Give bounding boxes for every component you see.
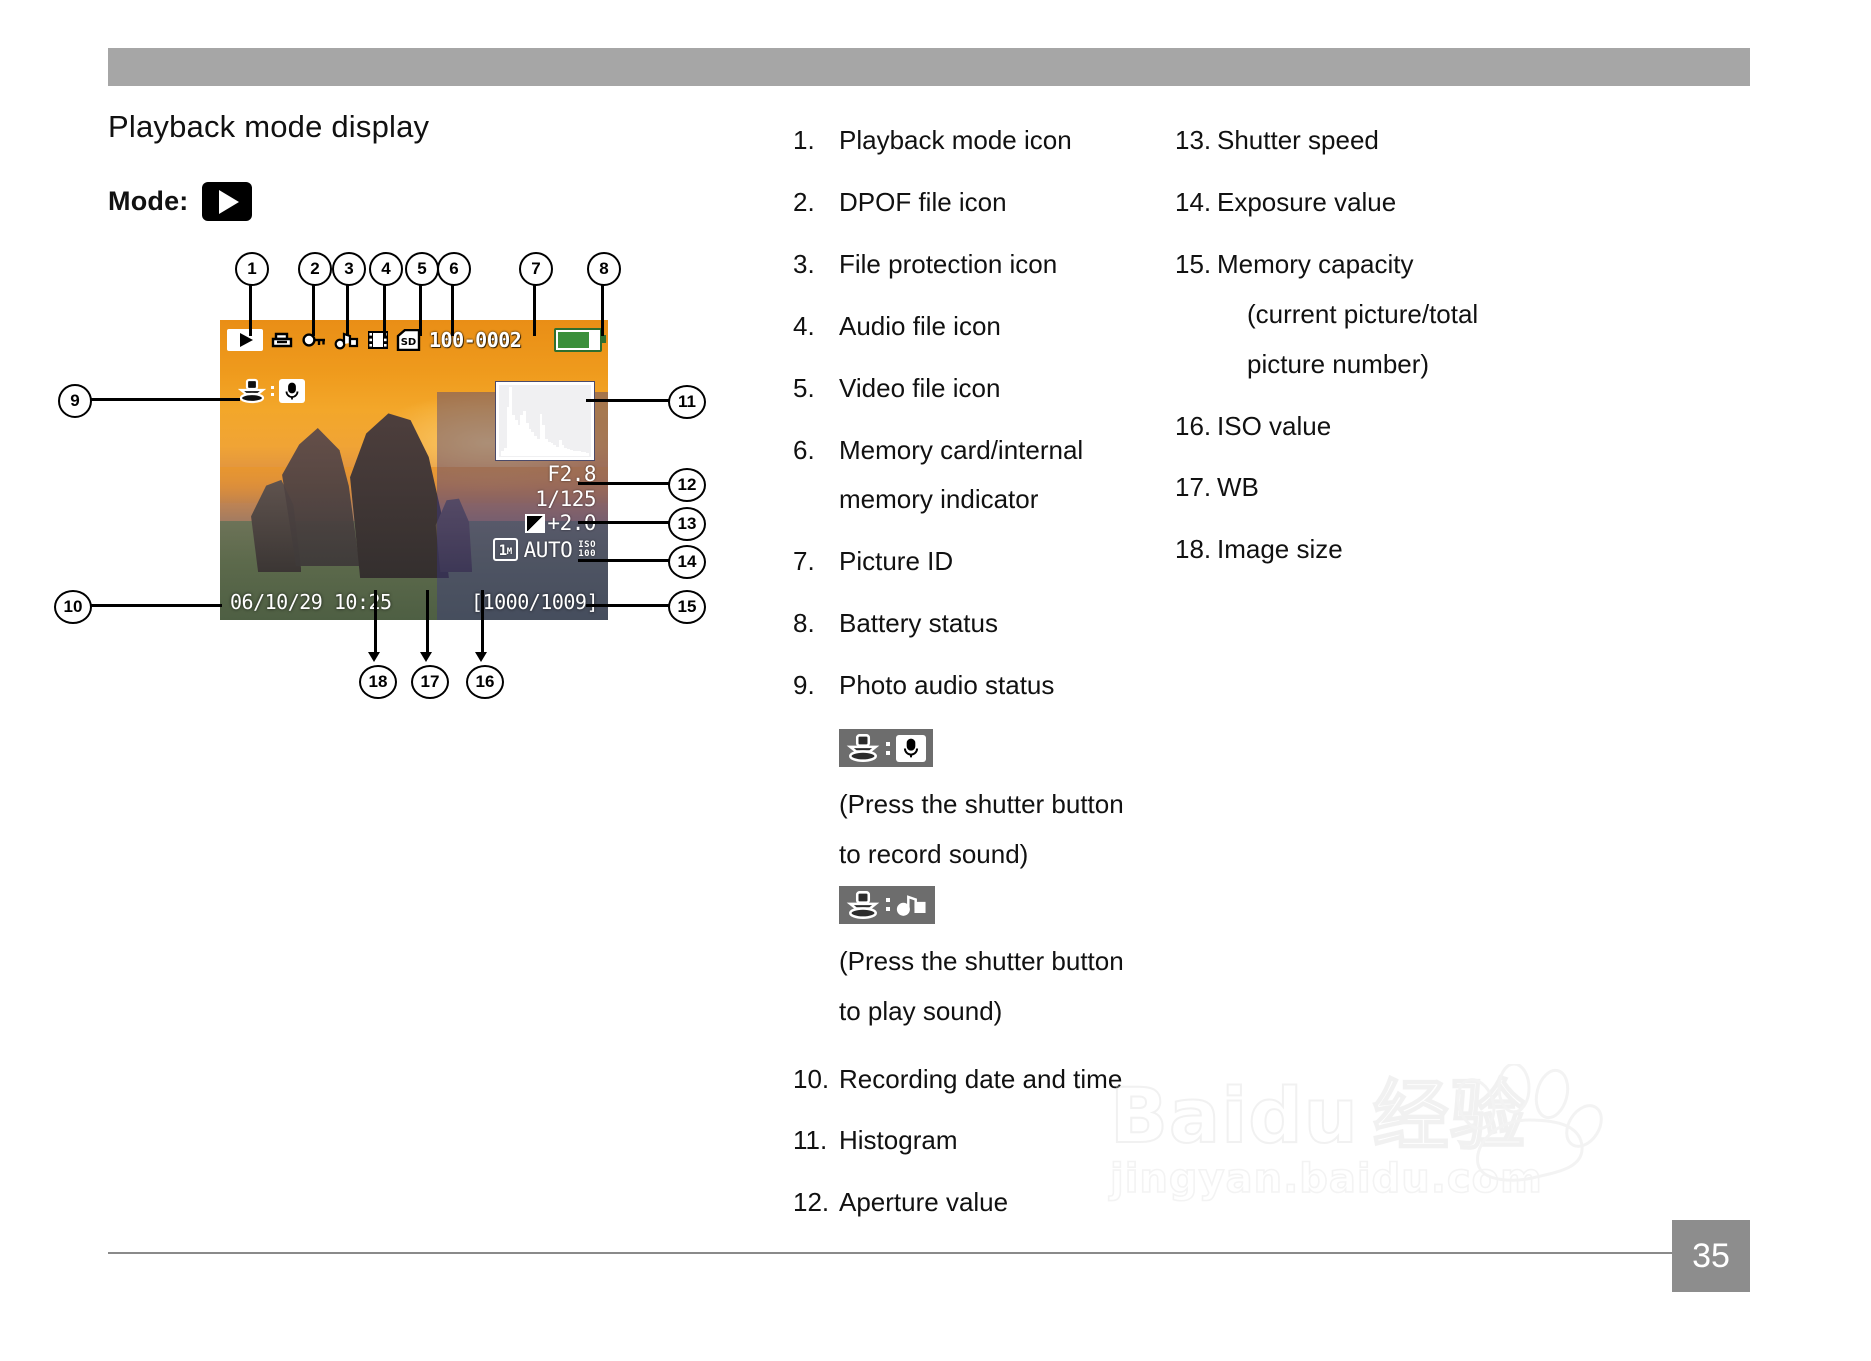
callout-9: 9 xyxy=(58,384,92,418)
legend-text: DPOF file icon xyxy=(839,178,1153,228)
callout-1: 1 xyxy=(235,252,269,286)
separator-dots xyxy=(886,898,890,911)
histogram-bar xyxy=(586,453,589,456)
osd-values: F2.8 1/125 +2.0 1M AUTO ISO 100 xyxy=(493,462,596,562)
legend-text: ISO value xyxy=(1217,402,1535,452)
watermark-brand-cn: 经验 xyxy=(1373,1080,1527,1152)
osd-top-row: SD 100-0002 xyxy=(227,327,602,353)
legend-number: 7. xyxy=(793,537,839,587)
legend-item: 16.ISO value xyxy=(1175,402,1535,452)
shutter-press-icon xyxy=(238,378,266,404)
legend-text: Image size xyxy=(1217,525,1535,575)
legend-text: Picture ID xyxy=(839,537,1153,587)
legend-number: 3. xyxy=(793,240,839,290)
legend-number: 1. xyxy=(793,116,839,166)
iso-value: 100 xyxy=(578,550,596,559)
legend-item: 12.Aperture value xyxy=(793,1178,1153,1228)
legend-item: 3.File protection icon xyxy=(793,240,1153,290)
legend-number: 9. xyxy=(793,661,839,711)
audio-play-note-line1: (Press the shutter button xyxy=(793,937,1153,987)
callout-10: 10 xyxy=(54,590,92,624)
page-number: 35 xyxy=(1672,1220,1750,1292)
callout-17: 17 xyxy=(411,665,449,699)
watermark-url: jingyan.baidu.com xyxy=(1110,1156,1700,1202)
legend-text: Histogram xyxy=(839,1116,1153,1166)
legend-number: 15. xyxy=(1175,240,1217,290)
audio-record-note-line1: (Press the shutter button xyxy=(793,780,1153,830)
footer-divider xyxy=(108,1252,1748,1254)
callout-6: 6 xyxy=(437,252,471,286)
sd-card-memory-icon: SD xyxy=(396,329,421,351)
photo-audio-status xyxy=(238,378,305,404)
legend-text: Playback mode icon xyxy=(839,116,1153,166)
iso-chip: ISO 100 xyxy=(578,541,596,559)
osd-bottom-row: 06/10/29 10:25 [1000/1009] xyxy=(230,590,598,614)
picture-id: 100-0002 xyxy=(429,328,521,352)
microphone-icon xyxy=(896,735,926,762)
baidu-watermark: Baidu 经验 jingyan.baidu.com xyxy=(1110,1080,1700,1270)
image-size-unit: M xyxy=(507,545,512,559)
callout-15: 15 xyxy=(668,590,706,624)
legend-number: 14. xyxy=(1175,178,1217,228)
legend-item: 5.Video file icon xyxy=(793,364,1153,414)
mode-row: Mode: xyxy=(108,182,748,221)
legend-number: 16. xyxy=(1175,402,1217,452)
callout-14: 14 xyxy=(668,545,706,579)
legend-item: 2.DPOF file icon xyxy=(793,178,1153,228)
legend-text: Memory card/internalmemory indicator xyxy=(839,426,1153,526)
legend-text: Photo audio status xyxy=(839,661,1153,711)
legend-number: 5. xyxy=(793,364,839,414)
callout-3: 3 xyxy=(332,252,366,286)
legend-item: 4.Audio file icon xyxy=(793,302,1153,352)
legend-column-right: 13.Shutter speed 14.Exposure value 15.Me… xyxy=(1175,116,1535,587)
legend-text-line2: (current picture/total xyxy=(1217,290,1535,340)
separator-dots xyxy=(271,386,274,396)
legend-text-line1: Memory card/internal xyxy=(839,435,1083,465)
legend-text: Recording date and time xyxy=(839,1055,1153,1105)
mode-label: Mode: xyxy=(108,186,188,217)
legend-text: Memory capacity(current picture/totalpic… xyxy=(1217,240,1535,390)
legend-item: 15.Memory capacity(current picture/total… xyxy=(1175,240,1535,390)
playback-mode-icon xyxy=(227,329,263,351)
page-title: Playback mode display xyxy=(108,110,748,144)
recording-datetime: 06/10/29 10:25 xyxy=(230,590,392,614)
histogram xyxy=(496,382,594,460)
legend-number: 8. xyxy=(793,599,839,649)
playback-display-diagram: 1 2 3 4 5 6 7 8 9 10 11 12 13 14 15 xyxy=(108,240,758,710)
legend-number: 4. xyxy=(793,302,839,352)
image-size-value: 1 xyxy=(499,543,507,559)
microphone-icon xyxy=(279,379,305,403)
legend-item: 13.Shutter speed xyxy=(1175,116,1535,166)
legend-item: 10.Recording date and time xyxy=(793,1055,1153,1105)
legend-text: WB xyxy=(1217,463,1535,513)
audio-record-note-line2: to record sound) xyxy=(793,830,1153,880)
legend-number: 13. xyxy=(1175,116,1217,166)
exposure-compensation-icon xyxy=(525,514,545,533)
white-balance-value: AUTO xyxy=(524,538,573,563)
osd-layer: SD 100-0002 xyxy=(220,320,608,620)
legend-item: 6.Memory card/internalmemory indicator xyxy=(793,426,1153,526)
legend-text: Audio file icon xyxy=(839,302,1153,352)
dpof-printer-icon xyxy=(270,329,294,351)
shutter-press-icon xyxy=(846,890,880,920)
image-size-chip: 1M xyxy=(493,538,518,561)
legend-item: 7.Picture ID xyxy=(793,537,1153,587)
legend-number: 6. xyxy=(793,426,839,476)
callout-4: 4 xyxy=(369,252,403,286)
legend-text: Aperture value xyxy=(839,1178,1153,1228)
callout-12: 12 xyxy=(668,468,706,502)
separator-dots xyxy=(886,742,890,755)
legend-number: 12. xyxy=(793,1178,839,1228)
legend-number: 2. xyxy=(793,178,839,228)
svg-text:SD: SD xyxy=(401,337,417,348)
legend-text: File protection icon xyxy=(839,240,1153,290)
battery-status-icon xyxy=(554,328,602,352)
callout-8: 8 xyxy=(587,252,621,286)
callout-5: 5 xyxy=(405,252,439,286)
legend-number: 10. xyxy=(793,1055,839,1105)
legend-number: 18. xyxy=(1175,525,1217,575)
legend-column-left: 1.Playback mode icon 2.DPOF file icon 3.… xyxy=(793,116,1153,1240)
page-header-bar xyxy=(108,48,1750,86)
callout-7: 7 xyxy=(519,252,553,286)
audio-note-icon xyxy=(896,892,928,918)
audio-record-icon-pair xyxy=(839,729,933,767)
shutter-press-icon xyxy=(846,733,880,763)
callout-2: 2 xyxy=(298,252,332,286)
manual-page: Playback mode display Mode: 1 2 3 4 5 6 … xyxy=(0,0,1871,1361)
legend-text: Video file icon xyxy=(839,364,1153,414)
legend-text-line1: Memory capacity xyxy=(1217,249,1414,279)
video-file-film-icon xyxy=(367,329,389,351)
histogram-bars xyxy=(501,387,589,456)
audio-play-icon-pair xyxy=(839,886,935,924)
legend-text-line3: picture number) xyxy=(1217,340,1535,390)
legend-text: Exposure value xyxy=(1217,178,1535,228)
legend-item: 11.Histogram xyxy=(793,1116,1153,1166)
legend-number: 11. xyxy=(793,1116,839,1166)
legend-item: 14.Exposure value xyxy=(1175,178,1535,228)
paw-icon xyxy=(1434,1064,1604,1184)
legend-item: 1.Playback mode icon xyxy=(793,116,1153,166)
shutter-speed: 1/125 xyxy=(493,487,596,512)
legend-item: 8.Battery status xyxy=(793,599,1153,649)
legend-text: Battery status xyxy=(839,599,1153,649)
legend-text-line2: memory indicator xyxy=(839,475,1153,525)
legend-number: 17. xyxy=(1175,463,1217,513)
legend-item: 9.Photo audio status xyxy=(793,661,1153,711)
legend-item: 18.Image size xyxy=(1175,525,1535,575)
callout-16: 16 xyxy=(466,665,504,699)
play-icon xyxy=(202,182,252,221)
audio-play-note-line2: to play sound) xyxy=(793,987,1153,1037)
legend-item: 17.WB xyxy=(1175,463,1535,513)
legend-text: Shutter speed xyxy=(1217,116,1535,166)
camera-lcd-screen: SD 100-0002 xyxy=(220,320,608,620)
callout-11: 11 xyxy=(668,385,706,419)
callout-18: 18 xyxy=(359,665,397,699)
callout-13: 13 xyxy=(668,507,706,541)
memory-capacity: [1000/1009] xyxy=(471,590,598,614)
left-column: Playback mode display Mode: xyxy=(108,110,748,221)
